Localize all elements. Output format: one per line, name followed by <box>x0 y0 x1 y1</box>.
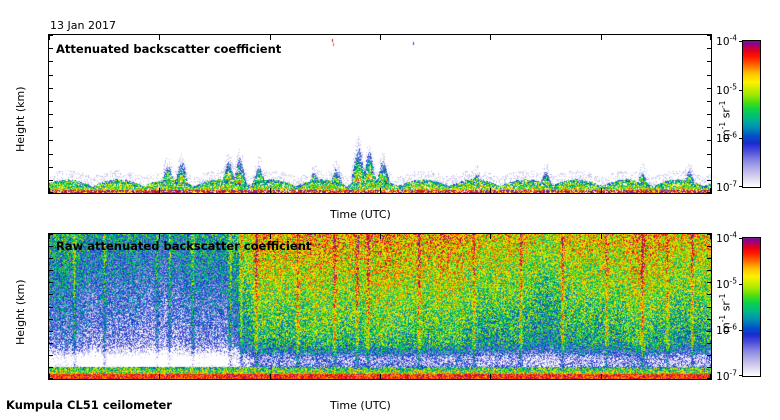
y-tick-top <box>49 101 53 102</box>
y-tick-top <box>49 48 53 49</box>
x-axis-title-bottom: Time (UTC) <box>330 399 391 412</box>
x-tick-top-top <box>49 35 50 40</box>
x-tick-top <box>49 188 50 193</box>
y-tick-right-bottom <box>707 367 711 368</box>
figure-caption: Kumpula CL51 ceilometer <box>6 398 172 412</box>
x-tick-top-top <box>380 35 381 40</box>
panel-title-bottom: Raw attenuated backscatter coefficient <box>56 239 311 253</box>
y-tick-bottom <box>49 343 53 344</box>
x-tick-top-bottom <box>49 234 50 239</box>
y-tick-top <box>49 180 53 181</box>
x-tick-top <box>490 188 491 193</box>
x-tick-top-top <box>270 35 271 40</box>
colorbar-title-top: m-1 sr-1 <box>718 101 733 140</box>
x-tick-top <box>159 188 160 193</box>
colorbar-tick-label-top: 10-7 <box>716 181 737 194</box>
x-tick-top-top <box>601 35 602 40</box>
colorbar-tick-bottom <box>739 330 743 331</box>
heatmap-raw-attenuated-backscatter <box>49 234 711 379</box>
y-tick-right-bottom <box>707 246 711 247</box>
y-tick-right-bottom <box>707 319 711 320</box>
x-tick-top-bottom <box>710 234 711 239</box>
y-tick-bottom <box>49 282 53 283</box>
x-axis-title-top: Time (UTC) <box>330 208 391 221</box>
y-tick-right-bottom <box>707 343 711 344</box>
colorbar-title-bottom: m-1 sr-1 <box>718 294 733 333</box>
y-tick-right-top <box>707 167 711 168</box>
panel-raw-attenuated-backscatter: 012345678910111200:0004:0008:0012:0016:0… <box>48 233 712 380</box>
y-tick-right-top <box>707 48 711 49</box>
colorbar-tick-label-bottom: 10-4 <box>716 232 737 245</box>
y-tick-bottom <box>49 331 53 332</box>
x-tick-bottom <box>710 374 711 379</box>
colorbar-tick-top <box>739 41 743 42</box>
colorbar-tick-top <box>739 90 743 91</box>
x-tick-top-top <box>159 35 160 40</box>
colorbar-tick-bottom <box>739 238 743 239</box>
x-tick-bottom <box>601 374 602 379</box>
panel-title-top: Attenuated backscatter coefficient <box>56 42 281 56</box>
y-tick-top <box>49 167 53 168</box>
colorbar-tick-top <box>739 138 743 139</box>
y-tick-right-top <box>707 127 711 128</box>
x-tick-top <box>270 188 271 193</box>
x-tick-bottom <box>49 374 50 379</box>
colorbar-tick-top <box>739 186 743 187</box>
date-label: 13 Jan 2017 <box>50 19 116 32</box>
colorbar-tick-label-top: 10-4 <box>716 35 737 48</box>
y-tick-right-bottom <box>707 355 711 356</box>
y-tick-top <box>49 154 53 155</box>
y-tick-right-bottom <box>707 258 711 259</box>
x-tick-top-top <box>490 35 491 40</box>
heatmap-attenuated-backscatter <box>49 35 711 193</box>
y-tick-right-top <box>707 101 711 102</box>
y-tick-top <box>49 114 53 115</box>
y-tick-right-bottom <box>707 270 711 271</box>
y-tick-bottom <box>49 258 53 259</box>
colorbar-tick-bottom <box>739 375 743 376</box>
y-tick-top <box>49 127 53 128</box>
x-tick-top-bottom <box>601 234 602 239</box>
colorbar-tick-bottom <box>739 284 743 285</box>
y-tick-right-top <box>707 180 711 181</box>
x-tick-bottom <box>490 374 491 379</box>
y-axis-title-top: Height (km) <box>14 86 27 152</box>
colorbar-bottom: 10-410-510-610-7 <box>742 237 761 377</box>
y-tick-bottom <box>49 294 53 295</box>
y-tick-bottom <box>49 319 53 320</box>
y-tick-right-top <box>707 75 711 76</box>
x-tick-bottom <box>270 374 271 379</box>
y-tick-right-top <box>707 61 711 62</box>
panel-attenuated-backscatter: 012345678910111200:0004:0008:0012:0016:0… <box>48 34 712 194</box>
y-tick-right-bottom <box>707 294 711 295</box>
x-tick-top <box>710 188 711 193</box>
colorbar-tick-label-bottom: 10-7 <box>716 370 737 383</box>
x-tick-top-top <box>710 35 711 40</box>
colorbar-tick-label-top: 10-5 <box>716 83 737 96</box>
plot-area-bottom <box>49 234 711 379</box>
x-tick-top <box>380 188 381 193</box>
colorbar-tick-label-bottom: 10-5 <box>716 278 737 291</box>
y-tick-right-top <box>707 88 711 89</box>
x-tick-bottom <box>380 374 381 379</box>
y-tick-right-top <box>707 154 711 155</box>
y-tick-right-top <box>707 140 711 141</box>
y-tick-top <box>49 140 53 141</box>
y-tick-bottom <box>49 307 53 308</box>
y-tick-bottom <box>49 270 53 271</box>
x-tick-top-bottom <box>380 234 381 239</box>
y-tick-right-top <box>707 114 711 115</box>
y-tick-top <box>49 61 53 62</box>
x-tick-bottom <box>159 374 160 379</box>
y-tick-top <box>49 75 53 76</box>
x-tick-top-bottom <box>490 234 491 239</box>
ceilometer-quicklook-figure: 13 Jan 2017 012345678910111200:0004:0008… <box>0 0 780 420</box>
y-tick-bottom <box>49 367 53 368</box>
colorbar-top: 10-410-510-610-7 <box>742 40 761 188</box>
y-tick-right-bottom <box>707 282 711 283</box>
y-tick-right-bottom <box>707 331 711 332</box>
plot-area-top <box>49 35 711 193</box>
y-tick-right-bottom <box>707 307 711 308</box>
y-tick-bottom <box>49 355 53 356</box>
y-axis-title-bottom: Height (km) <box>14 279 27 345</box>
y-tick-top <box>49 88 53 89</box>
x-tick-top <box>601 188 602 193</box>
y-tick-bottom <box>49 246 53 247</box>
